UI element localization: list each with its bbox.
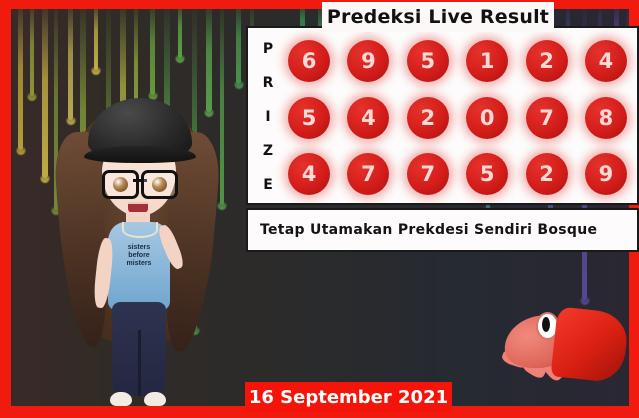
- shirt-line-1: sisters: [108, 244, 170, 252]
- necklace: [122, 222, 158, 238]
- number-ball: 5: [466, 153, 508, 195]
- light-streak: [42, 0, 48, 178]
- shoe-left: [110, 392, 132, 406]
- prize-letter: R: [263, 76, 274, 90]
- title-banner: Predeksi Live Result: [322, 2, 554, 32]
- disclaimer-text: Tetap Utamakan Prekdesi Sendiri Bosque: [248, 222, 597, 238]
- anime-girl-illustration: sisters before misters: [58, 62, 218, 402]
- shoe-right: [144, 392, 166, 406]
- prediction-card: P R I Z E 6 9 5 1 2 4 5 4 2: [246, 26, 639, 259]
- leg-divider: [138, 330, 141, 396]
- number-ball: 5: [288, 97, 330, 139]
- prize-letter: Z: [263, 144, 273, 158]
- lens-left: [102, 170, 139, 199]
- number-ball: 0: [466, 97, 508, 139]
- number-ball: 9: [585, 153, 627, 195]
- prize-letter: I: [265, 110, 270, 124]
- light-streak: [18, 0, 23, 150]
- eye-left: [113, 177, 128, 192]
- number-row: 6 9 5 1 2 4: [288, 40, 627, 82]
- prize-letter: P: [263, 42, 273, 56]
- shirt-line-2: before: [108, 252, 170, 260]
- date-banner: 16 September 2021: [245, 382, 452, 412]
- light-streak: [220, 0, 224, 205]
- lens-right: [141, 170, 178, 199]
- prize-vertical-label: P R I Z E: [257, 42, 279, 192]
- number-ball: 7: [526, 97, 568, 139]
- glasses-icon: [102, 170, 178, 193]
- disclaimer-panel: Tetap Utamakan Prekdesi Sendiri Bosque: [246, 208, 639, 252]
- page-title: Predeksi Live Result: [327, 6, 549, 28]
- number-ball: 4: [288, 153, 330, 195]
- light-streak: [30, 0, 34, 96]
- number-ball: 6: [288, 40, 330, 82]
- number-ball: 9: [347, 40, 389, 82]
- number-grid: 6 9 5 1 2 4 5 4 2 0 7 8 4 7: [288, 40, 627, 195]
- prediction-grid-panel: P R I Z E 6 9 5 1 2 4 5 4 2: [246, 26, 639, 205]
- frame-left: [0, 0, 11, 418]
- light-streak: [236, 0, 241, 84]
- number-ball: 1: [466, 40, 508, 82]
- number-ball: 7: [407, 153, 449, 195]
- crab-claw: [551, 306, 630, 383]
- number-ball: 4: [585, 40, 627, 82]
- number-row: 4 7 7 5 2 9: [288, 153, 627, 195]
- number-ball: 5: [407, 40, 449, 82]
- number-ball: 8: [585, 97, 627, 139]
- number-row: 5 4 2 0 7 8: [288, 97, 627, 139]
- date-label: 16 September 2021: [249, 387, 448, 408]
- number-ball: 2: [526, 40, 568, 82]
- number-ball: 4: [347, 97, 389, 139]
- number-ball: 2: [407, 97, 449, 139]
- cap-brim: [84, 146, 196, 163]
- poster-canvas: sisters before misters P R I Z: [0, 0, 639, 418]
- crab-illustration: [496, 300, 628, 396]
- shirt-text: sisters before misters: [108, 244, 170, 268]
- eye-right: [152, 177, 167, 192]
- shirt-line-3: misters: [108, 260, 170, 268]
- crab-pupil: [542, 317, 550, 332]
- prize-letter: E: [263, 178, 273, 192]
- light-streak: [94, 0, 98, 70]
- number-ball: 7: [347, 153, 389, 195]
- number-ball: 2: [526, 153, 568, 195]
